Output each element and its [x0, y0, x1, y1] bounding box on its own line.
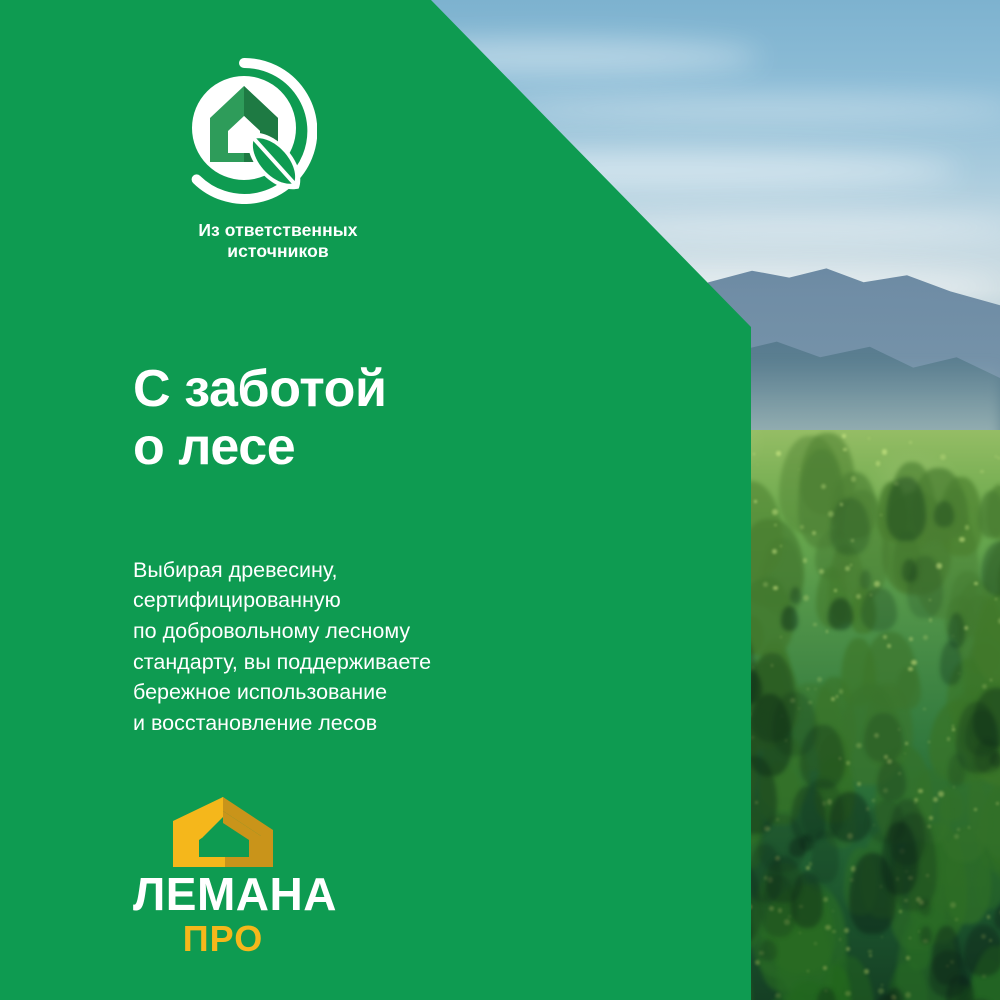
foliage-highlight	[883, 635, 887, 639]
foliage-highlight	[872, 799, 875, 802]
lemana-house-icon	[133, 795, 313, 869]
tree-crown	[896, 667, 922, 709]
canopy-shadow	[981, 541, 1000, 596]
foliage-highlight	[868, 950, 871, 953]
foliage-highlight	[906, 956, 910, 960]
foliage-highlight	[819, 569, 824, 574]
foliage-highlight	[908, 667, 913, 672]
foliage-highlight	[832, 910, 834, 912]
foliage-highlight	[950, 902, 956, 908]
foliage-highlight	[974, 582, 977, 585]
foliage-highlight	[882, 449, 888, 455]
foliage-highlight	[929, 618, 933, 622]
cloud-streak	[500, 96, 1000, 122]
foliage-highlight	[869, 954, 872, 957]
canopy-shadow	[766, 856, 802, 903]
foliage-highlight	[868, 437, 870, 439]
foliage-highlight	[957, 828, 960, 831]
foliage-highlight	[823, 897, 828, 902]
foliage-highlight	[856, 743, 861, 748]
brand-suffix: ПРО	[133, 921, 313, 957]
foliage-highlight	[846, 947, 851, 952]
foliage-highlight	[823, 966, 827, 970]
page-title: С заботой о лесе	[133, 360, 387, 476]
foliage-highlight	[864, 969, 869, 974]
responsible-sources-badge: Из ответственныхисточников	[133, 58, 423, 263]
foliage-highlight	[753, 453, 755, 455]
foliage-highlight	[918, 789, 922, 793]
foliage-highlight	[909, 637, 913, 641]
foliage-highlight	[953, 786, 955, 788]
canopy-shadow	[789, 838, 806, 857]
canopy-shadow	[886, 477, 925, 541]
foliage-highlight	[876, 461, 880, 465]
foliage-highlight	[878, 988, 884, 994]
foliage-highlight	[909, 937, 911, 939]
foliage-highlight	[905, 742, 908, 745]
foliage-highlight	[923, 635, 928, 640]
foliage-highlight	[955, 918, 958, 921]
foliage-highlight	[844, 928, 850, 934]
canopy-shadow	[877, 760, 906, 801]
foliage-highlight	[803, 595, 809, 601]
foliage-highlight	[814, 942, 817, 945]
lemana-pro-logo: ЛЕМАНА ПРО	[133, 795, 313, 957]
foliage-highlight	[799, 932, 801, 934]
foliage-highlight	[987, 915, 991, 919]
foliage-highlight	[909, 441, 912, 444]
foliage-highlight	[832, 930, 836, 934]
canopy-shadow	[920, 926, 933, 944]
foliage-highlight	[857, 782, 861, 786]
foliage-highlight	[800, 525, 804, 529]
responsible-sources-seal-icon	[171, 58, 317, 204]
badge-caption-line2: источников	[227, 241, 329, 261]
tree-crown	[976, 855, 1000, 909]
canopy-shadow	[790, 587, 801, 604]
foliage-highlight	[874, 581, 879, 586]
foliage-highlight	[980, 470, 984, 474]
tree-crown	[978, 491, 1000, 538]
foliage-highlight	[940, 454, 946, 460]
foliage-highlight	[813, 623, 816, 626]
canopy-shadow	[791, 786, 826, 843]
foliage-highlight	[826, 630, 828, 632]
canopy-shadow	[861, 588, 897, 632]
poster-root: Из ответственныхисточников С заботой о л…	[0, 0, 1000, 1000]
canopy-shadow	[864, 713, 903, 762]
canopy-shadow	[860, 570, 871, 589]
foliage-highlight	[807, 688, 809, 690]
badge-caption-line1: Из ответственных	[198, 220, 357, 240]
foliage-highlight	[881, 984, 883, 986]
foliage-highlight	[995, 598, 997, 600]
foliage-highlight	[905, 992, 911, 998]
badge-caption: Из ответственныхисточников	[133, 220, 423, 263]
foliage-highlight	[845, 991, 850, 996]
canopy-shadow	[934, 501, 954, 527]
foliage-highlight	[825, 925, 831, 931]
canopy-shadow	[759, 940, 777, 961]
canopy-shadow	[964, 925, 1000, 976]
foliage-highlight	[851, 476, 857, 482]
foliage-highlight	[929, 816, 933, 820]
foliage-highlight	[923, 708, 926, 711]
canopy-shadow	[889, 799, 925, 866]
brand-name: ЛЕМАНА	[133, 871, 313, 917]
canopy-shadow	[990, 752, 1000, 767]
canopy-shadow	[781, 606, 798, 631]
foliage-highlight	[881, 936, 883, 938]
canopy-shadow	[929, 950, 968, 997]
foliage-highlight	[757, 464, 759, 466]
canopy-shadow	[828, 598, 853, 630]
foliage-highlight	[776, 451, 780, 455]
foliage-highlight	[831, 697, 835, 701]
foliage-highlight	[947, 737, 950, 740]
canopy-shadow	[830, 498, 869, 554]
foliage-highlight	[880, 514, 882, 516]
foliage-highlight	[817, 677, 822, 682]
body-paragraph: Выбирая древесину, сертифицированную по …	[133, 555, 553, 739]
foliage-highlight	[803, 558, 807, 562]
foliage-highlight	[911, 660, 917, 666]
foliage-highlight	[938, 791, 944, 797]
foliage-highlight	[904, 753, 906, 755]
foliage-highlight	[856, 594, 861, 599]
foliage-highlight	[806, 866, 810, 870]
foliage-highlight	[952, 725, 954, 727]
foliage-highlight	[842, 434, 847, 439]
